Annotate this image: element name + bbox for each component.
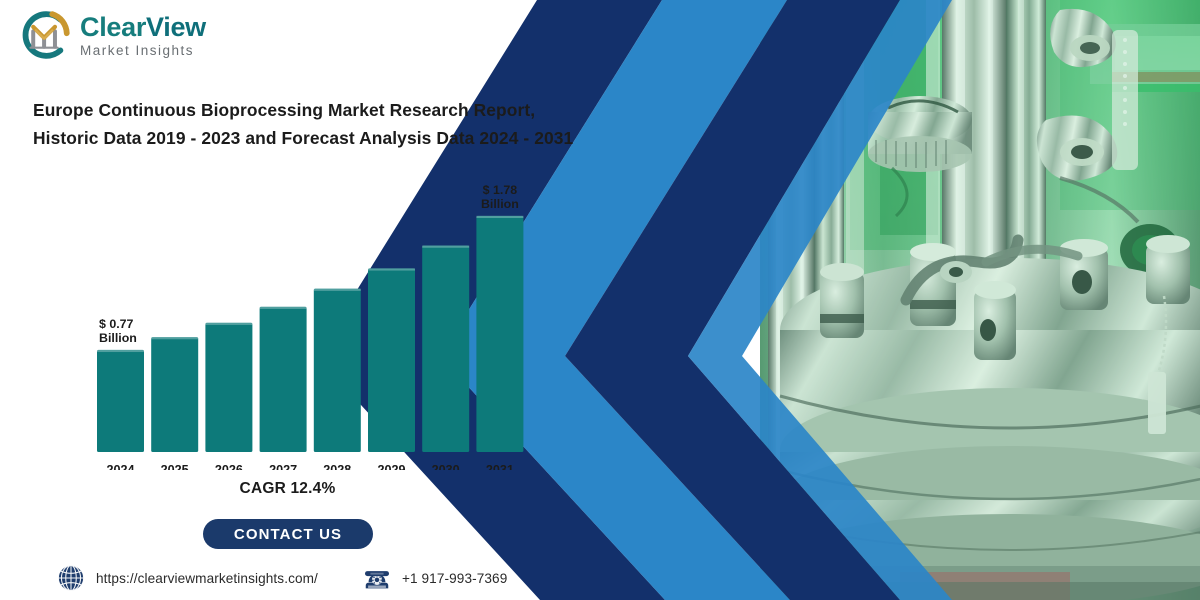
- value-label-2031-line2: Billion: [481, 197, 519, 211]
- brand-tagline: Market Insights: [80, 44, 206, 58]
- report-title-line-2: Historic Data 2019 - 2023 and Forecast A…: [33, 128, 573, 148]
- report-title-line-1: Europe Continuous Bioprocessing Market R…: [33, 100, 535, 120]
- brand-wordmark: ClearView Market Insights: [80, 12, 206, 58]
- bar-2028: [314, 289, 361, 452]
- x-tick-2031: 2031: [486, 463, 514, 470]
- brand-logo[interactable]: ClearView Market Insights: [16, 4, 266, 66]
- website-link[interactable]: https://clearviewmarketinsights.com/: [96, 571, 318, 586]
- value-label-2024-line2: Billion: [99, 331, 137, 345]
- bar-2027: [260, 307, 307, 452]
- brand-name-part1: Clear: [80, 12, 146, 42]
- x-tick-2025: 2025: [161, 463, 189, 470]
- website-contact-item[interactable]: https://clearviewmarketinsights.com/: [56, 563, 318, 593]
- x-tick-2028: 2028: [323, 463, 351, 470]
- x-tick-2026: 2026: [215, 463, 243, 470]
- bar-2031: [476, 216, 523, 452]
- page-title: Europe Continuous Bioprocessing Market R…: [33, 96, 603, 152]
- footer-contact-bar: https://clearviewmarketinsights.com/: [56, 558, 576, 598]
- bar-2029: [368, 268, 415, 452]
- x-tick-2027: 2027: [269, 463, 297, 470]
- bar-2024: [97, 350, 144, 452]
- bar-2025: [151, 337, 198, 452]
- market-size-bar-chart: 20242025202620272028202920302031$ 0.77Bi…: [60, 170, 580, 470]
- bar-2030: [422, 246, 469, 452]
- report-banner: ClearView Market Insights Europe Continu…: [0, 0, 1200, 600]
- value-label-2024-line1: $ 0.77: [99, 317, 134, 331]
- clearview-monogram-icon: [16, 6, 74, 64]
- phone-number: +1 917-993-7369: [402, 571, 507, 586]
- cagr-label: CAGR 12.4%: [0, 480, 575, 498]
- phone-contact-item[interactable]: +1 917-993-7369: [362, 563, 507, 593]
- bar-2026: [205, 323, 252, 452]
- x-tick-2030: 2030: [432, 463, 460, 470]
- brand-name: ClearView: [80, 14, 206, 41]
- bioprocessing-equipment-photo: [760, 0, 1200, 600]
- value-label-2031-line1: $ 1.78: [483, 183, 518, 197]
- telephone-icon: [362, 563, 392, 593]
- x-tick-2029: 2029: [377, 463, 405, 470]
- brand-name-part2: View: [146, 12, 206, 42]
- globe-icon: [56, 563, 86, 593]
- x-tick-2024: 2024: [106, 463, 134, 470]
- contact-us-button[interactable]: CONTACT US: [203, 519, 373, 549]
